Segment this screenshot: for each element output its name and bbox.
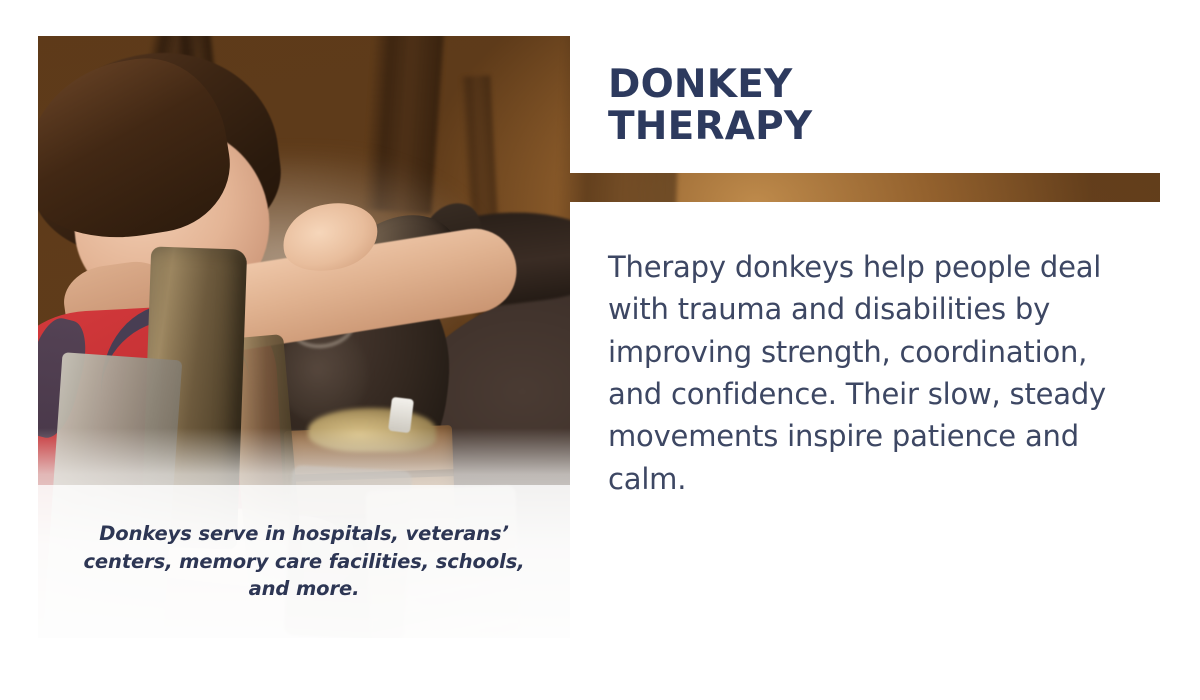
slide-canvas: Donkeys serve in hospitals, veterans’ ce…: [0, 0, 1200, 700]
title-block: DONKEY THERAPY: [608, 64, 1148, 148]
image-caption-overlay: Donkeys serve in hospitals, veterans’ ce…: [38, 485, 570, 638]
right-margin-background: [1160, 0, 1200, 700]
image-caption-text: Donkeys serve in hospitals, veterans’ ce…: [72, 520, 536, 603]
page-title: DONKEY THERAPY: [608, 64, 1148, 148]
body-paragraph: Therapy donkeys help people deal with tr…: [608, 246, 1144, 500]
body-block: Therapy donkeys help people deal with tr…: [608, 246, 1144, 500]
